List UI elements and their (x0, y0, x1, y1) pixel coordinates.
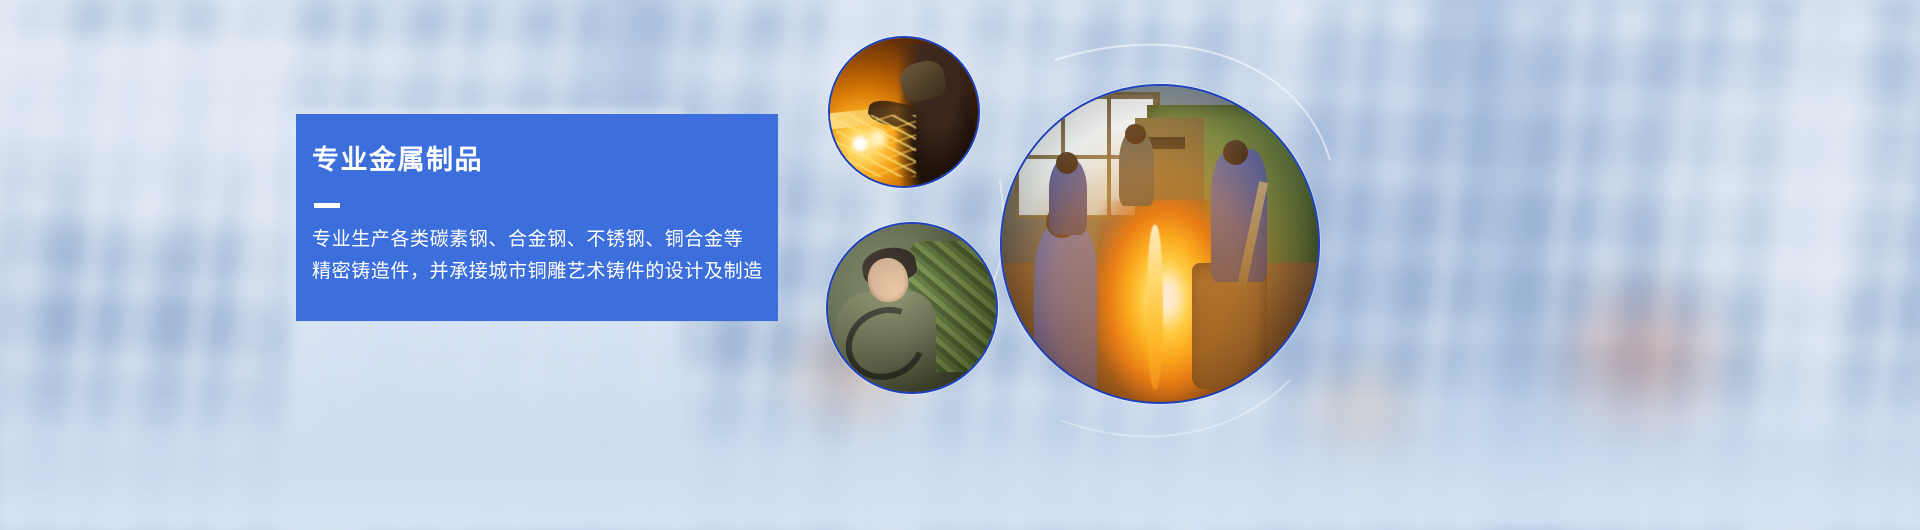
panel-description: 专业生产各类碳素钢、合金钢、不锈钢、铜合金等 精密铸造件，并承接城市铜雕艺术铸件… (312, 224, 872, 288)
worker-coils-photo (826, 222, 998, 394)
info-panel-content: 专业金属制品 (296, 114, 778, 321)
panel-description-line-2: 精密铸造件，并承接城市铜雕艺术铸件的设计及制造 (312, 256, 872, 288)
panel-title: 专业金属制品 (312, 146, 778, 176)
foundry-pour-photo (1000, 84, 1320, 404)
welding-sparks (836, 115, 916, 177)
panel-description-line-1: 专业生产各类碳素钢、合金钢、不锈钢、铜合金等 (312, 224, 872, 256)
coils-photo-vignette (828, 224, 996, 392)
welding-sparks-photo (828, 36, 980, 188)
foundry-photo-vignette (1002, 86, 1318, 402)
hero-banner: 专业金属制品 专业生产各类碳素钢、合金钢、不锈钢、铜合金等 精密铸造件，并承接城… (0, 0, 1920, 530)
divider-dash (314, 203, 340, 208)
